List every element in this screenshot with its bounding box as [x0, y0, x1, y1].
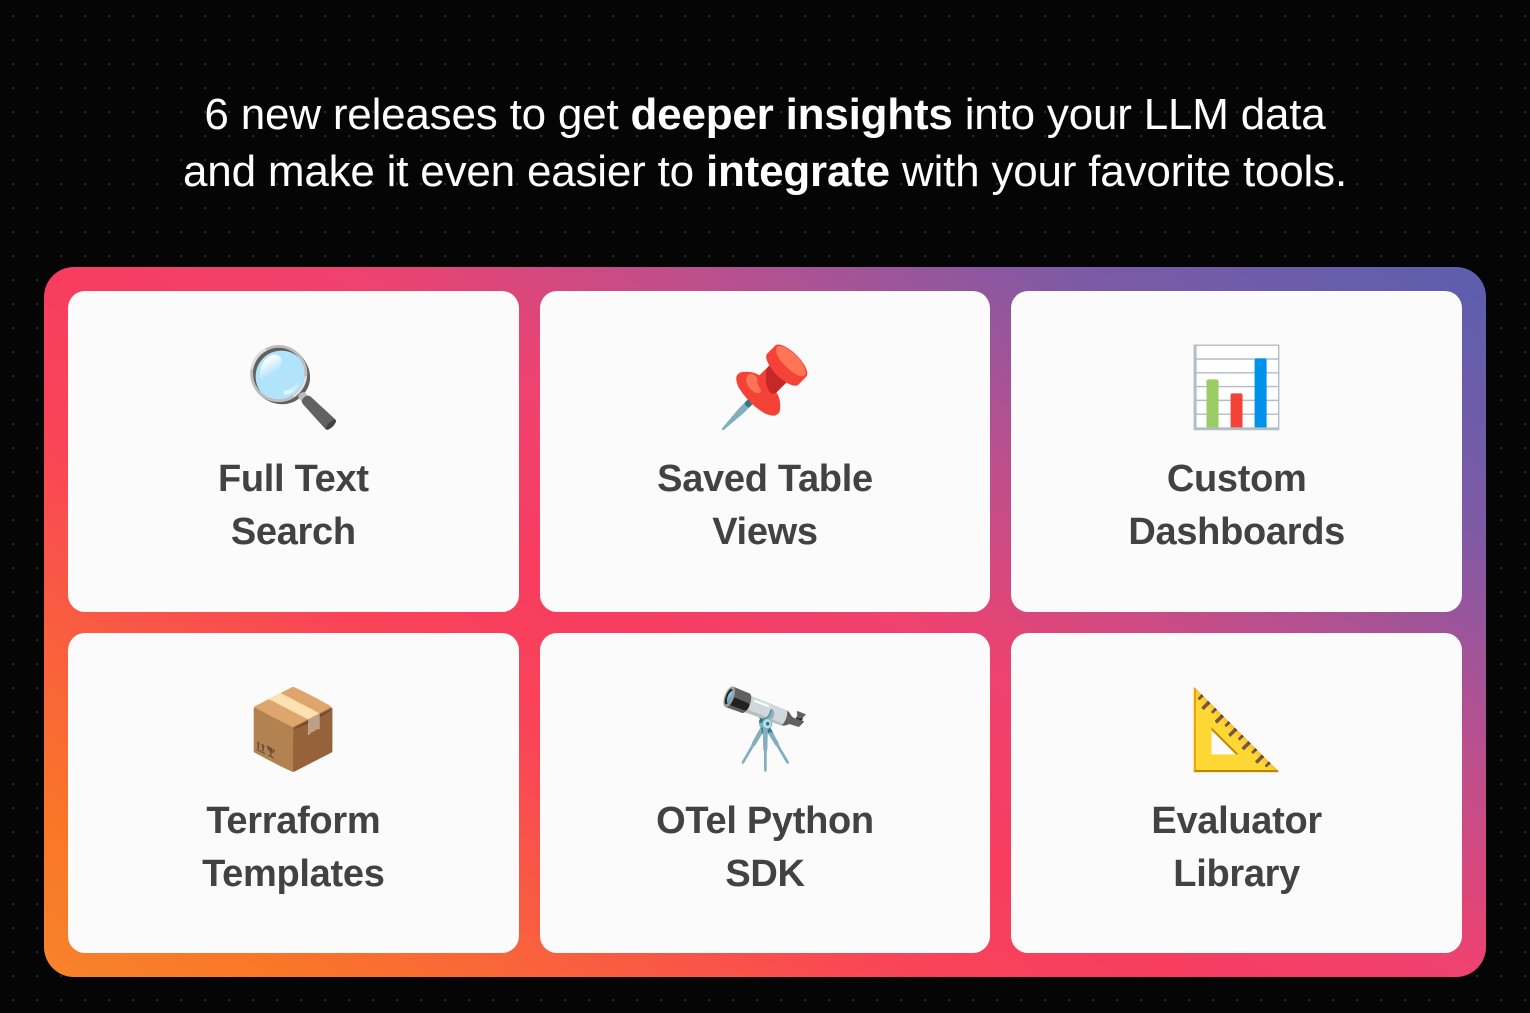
headline-line2-pre: and make it even easier to: [183, 147, 706, 196]
feature-card-label-line2: Views: [657, 506, 873, 559]
feature-card-label: OTel Python SDK: [656, 795, 874, 901]
magnifying-glass-icon: 🔍: [245, 339, 342, 435]
feature-card-label-line1: OTel Python: [656, 795, 874, 848]
feature-card-evaluator-library[interactable]: 📐 Evaluator Library: [1011, 633, 1462, 954]
feature-card-label-line1: Terraform: [202, 795, 384, 848]
headline-line2-post: with your favorite tools.: [890, 147, 1347, 196]
feature-card-label-line1: Full Text: [218, 453, 369, 506]
feature-card-label-line1: Evaluator: [1151, 795, 1321, 848]
package-box-icon: 📦: [245, 681, 342, 777]
feature-card-label-line1: Custom: [1128, 453, 1345, 506]
feature-card-label: Saved Table Views: [657, 453, 873, 559]
triangular-ruler-icon: 📐: [1188, 681, 1285, 777]
page-headline: 6 new releases to get deeper insights in…: [0, 86, 1530, 200]
feature-card-label-line2: Templates: [202, 848, 384, 901]
feature-card-label: Custom Dashboards: [1128, 453, 1345, 559]
headline-line-1: 6 new releases to get deeper insights in…: [60, 86, 1470, 143]
pushpin-icon: 📌: [716, 339, 813, 435]
feature-card-label-line2: Dashboards: [1128, 506, 1345, 559]
headline-line1-emphasis: deeper insights: [631, 90, 953, 139]
headline-line1-pre: 6 new releases to get: [204, 90, 630, 139]
feature-card-label: Full Text Search: [218, 453, 369, 559]
feature-card-label-line1: Saved Table: [657, 453, 873, 506]
feature-card-label-line2: Library: [1151, 848, 1321, 901]
telescope-icon: 🔭: [716, 681, 813, 777]
feature-card-grid: 🔍 Full Text Search 📌 Saved Table Views 📊…: [68, 291, 1462, 953]
bar-chart-icon: 📊: [1188, 339, 1285, 435]
feature-card-full-text-search[interactable]: 🔍 Full Text Search: [68, 291, 519, 612]
headline-line-2: and make it even easier to integrate wit…: [60, 143, 1470, 200]
feature-card-label: Terraform Templates: [202, 795, 384, 901]
feature-card-terraform-templates[interactable]: 📦 Terraform Templates: [68, 633, 519, 954]
headline-line2-emphasis: integrate: [706, 147, 890, 196]
feature-card-saved-table-views[interactable]: 📌 Saved Table Views: [540, 291, 991, 612]
feature-card-label: Evaluator Library: [1151, 795, 1321, 901]
headline-line1-post: into your LLM data: [953, 90, 1326, 139]
feature-card-label-line2: Search: [218, 506, 369, 559]
feature-card-otel-python-sdk[interactable]: 🔭 OTel Python SDK: [540, 633, 991, 954]
feature-card-custom-dashboards[interactable]: 📊 Custom Dashboards: [1011, 291, 1462, 612]
feature-card-label-line2: SDK: [656, 848, 874, 901]
feature-grid-frame: 🔍 Full Text Search 📌 Saved Table Views 📊…: [44, 267, 1486, 977]
